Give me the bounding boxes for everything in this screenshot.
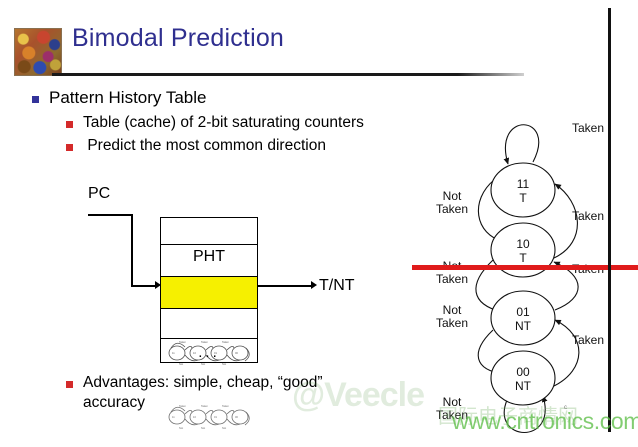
pht-row-highlighted: 1110 0100 TakenTakenTaken NotNotNot: [161, 277, 257, 309]
fsm-state-11-pred: T: [519, 191, 527, 205]
fsm-state-10-id: 10: [516, 237, 530, 251]
fsm-state-01-pred: NT: [515, 319, 532, 333]
bullet-marker-square-icon: [66, 381, 73, 388]
bullet-item-table-cache: Table (cache) of 2-bit saturating counte…: [66, 113, 364, 133]
svg-text:Taken: Taken: [201, 404, 208, 408]
svg-text:Not: Not: [201, 426, 205, 430]
fsm-edge-label-taken-top: Taken: [572, 122, 604, 135]
bullet-item-predict-direction: Predict the most common direction: [66, 136, 326, 156]
fsm-edge-label-taken-4: Taken: [572, 334, 604, 347]
bullet-label: Predict the most common direction: [83, 136, 326, 156]
counter-fsm-thumbnail-icon: 1110 0100 TakenTakenTaken NotNotNot: [165, 401, 255, 431]
pht-output-label: T/NT: [319, 277, 355, 295]
svg-text:11: 11: [172, 415, 175, 419]
red-divider-line: [412, 265, 638, 270]
saturating-counter-state-diagram: 11 T 10 T 01 NT 00 NT Taken Not Taken Ta…: [430, 108, 638, 447]
fsm-edge-label-not-taken-1: Not Taken: [436, 190, 468, 216]
svg-text:01: 01: [214, 415, 217, 419]
svg-text:10: 10: [193, 415, 196, 419]
fsm-state-11-id: 11: [517, 177, 530, 191]
pht-output-wire: [258, 285, 314, 287]
svg-text:Taken: Taken: [179, 404, 186, 408]
pht-row: 1110 0100 TakenTakenTaken NotNotNot: [161, 309, 257, 339]
fsm-edge-label-taken-2: Taken: [572, 210, 604, 223]
title-divider: [52, 73, 524, 76]
pc-wire-horizontal-top: [88, 214, 132, 216]
bullet-marker-square-icon: [66, 121, 73, 128]
svg-text:00: 00: [235, 415, 238, 419]
pc-wire-horizontal-bottom: [131, 285, 158, 287]
bullet-marker-square-icon: [32, 96, 39, 103]
page-title: Bimodal Prediction: [72, 24, 284, 53]
fsm-edge-label-not-taken-4: Not Taken: [436, 396, 468, 422]
fsm-edge-label-not-taken-3: Not Taken: [436, 304, 468, 330]
slide-logo-thumbnail: [14, 28, 62, 76]
svg-text:Not: Not: [222, 426, 226, 430]
fsm-state-01-id: 01: [516, 305, 530, 319]
pht-row: [161, 218, 257, 245]
pht-input-label: PC: [88, 185, 110, 203]
fsm-edge-label-not-taken-2: Not Taken: [436, 260, 468, 286]
svg-text:Taken: Taken: [222, 404, 229, 408]
fsm-state-00-pred: NT: [515, 379, 532, 393]
bullet-label: Table (cache) of 2-bit saturating counte…: [83, 113, 364, 133]
fsm-state-10-pred: T: [519, 251, 527, 265]
bullet-label: Pattern History Table: [49, 88, 206, 108]
bullet-marker-square-icon: [66, 144, 73, 151]
output-arrowhead-icon: [311, 281, 317, 289]
right-vertical-rule: [608, 8, 611, 432]
pht-table-label: PHT: [161, 248, 257, 266]
pht-ellipsis: ...: [161, 344, 257, 361]
slide-canvas: Bimodal Prediction Pattern History Table…: [0, 0, 638, 447]
svg-text:Not: Not: [179, 426, 183, 430]
fsm-state-00-id: 00: [516, 365, 530, 379]
pc-wire-vertical: [131, 214, 133, 286]
pht-table: 1110 0100 TakenTakenTaken NotNotNot: [160, 217, 258, 363]
bullet-item-pattern-history-table: Pattern History Table: [32, 88, 206, 108]
